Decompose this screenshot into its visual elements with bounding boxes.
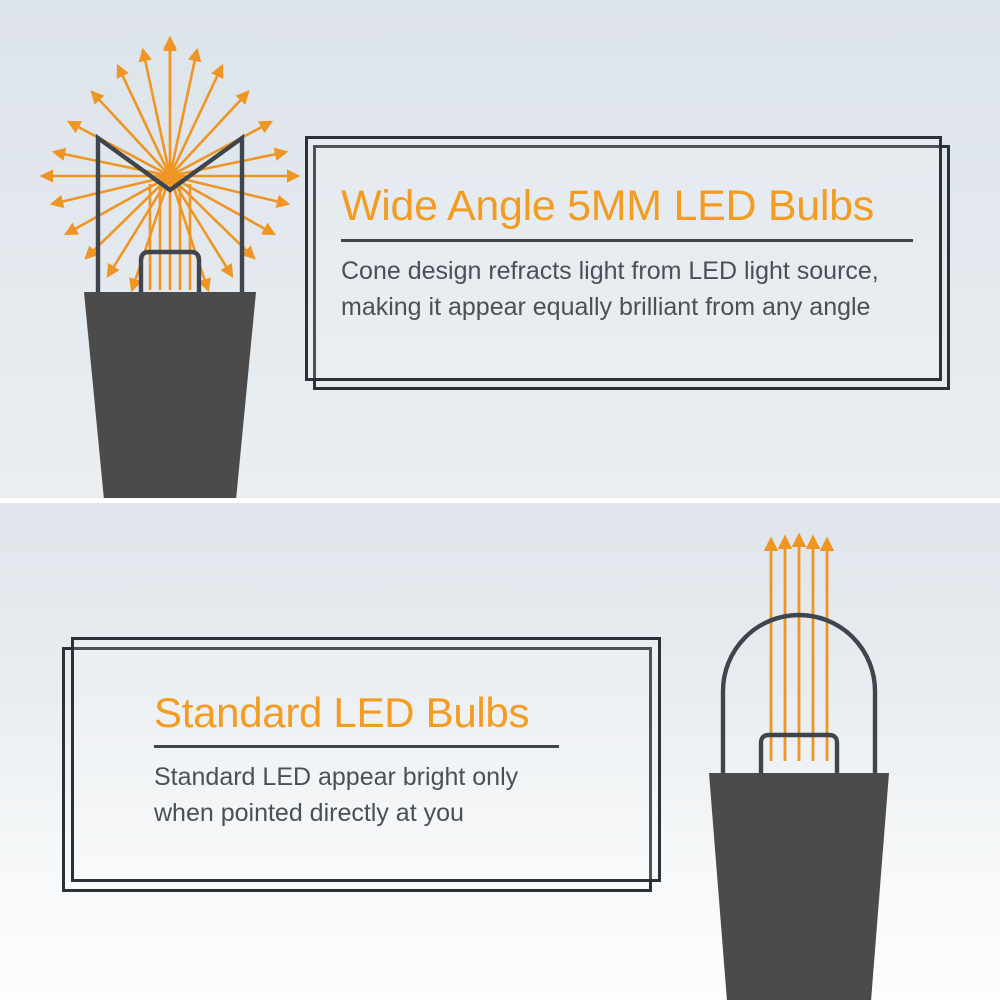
source-beam-group [150,178,190,290]
textbox-wide-angle: Wide Angle 5MM LED Bulbs Cone design ref… [305,136,950,390]
panel-body-wide-angle: Cone design refracts light from LED ligh… [341,254,913,325]
panel-body-standard: Standard LED appear bright only when poi… [154,760,624,831]
title-underline [154,745,559,748]
textbox-content: Standard LED Bulbs Standard LED appear b… [154,691,624,831]
body-line: Standard LED appear bright only [154,760,624,796]
bulb-base [709,773,889,1000]
panel-standard: Standard LED Bulbs Standard LED appear b… [0,503,1000,1000]
body-line: making it appear equally brilliant from … [341,290,913,326]
textbox-content: Wide Angle 5MM LED Bulbs Cone design ref… [341,184,913,325]
panel-title-wide-angle: Wide Angle 5MM LED Bulbs [341,184,913,229]
title-underline [341,239,913,242]
textbox-standard: Standard LED Bulbs Standard LED appear b… [62,637,662,892]
panel-title-standard: Standard LED Bulbs [154,691,624,735]
body-line: when pointed directly at you [154,796,624,832]
bulb-base [84,292,256,498]
body-line: Cone design refracts light from LED ligh… [341,254,913,290]
standard-led-bulb-illustration [675,521,925,1000]
infographic-root: Wide Angle 5MM LED Bulbs Cone design ref… [0,0,1000,1000]
wide-angle-led-bulb-illustration [22,8,322,498]
panel-wide-angle: Wide Angle 5MM LED Bulbs Cone design ref… [0,0,1000,498]
light-ray-group [771,535,827,761]
